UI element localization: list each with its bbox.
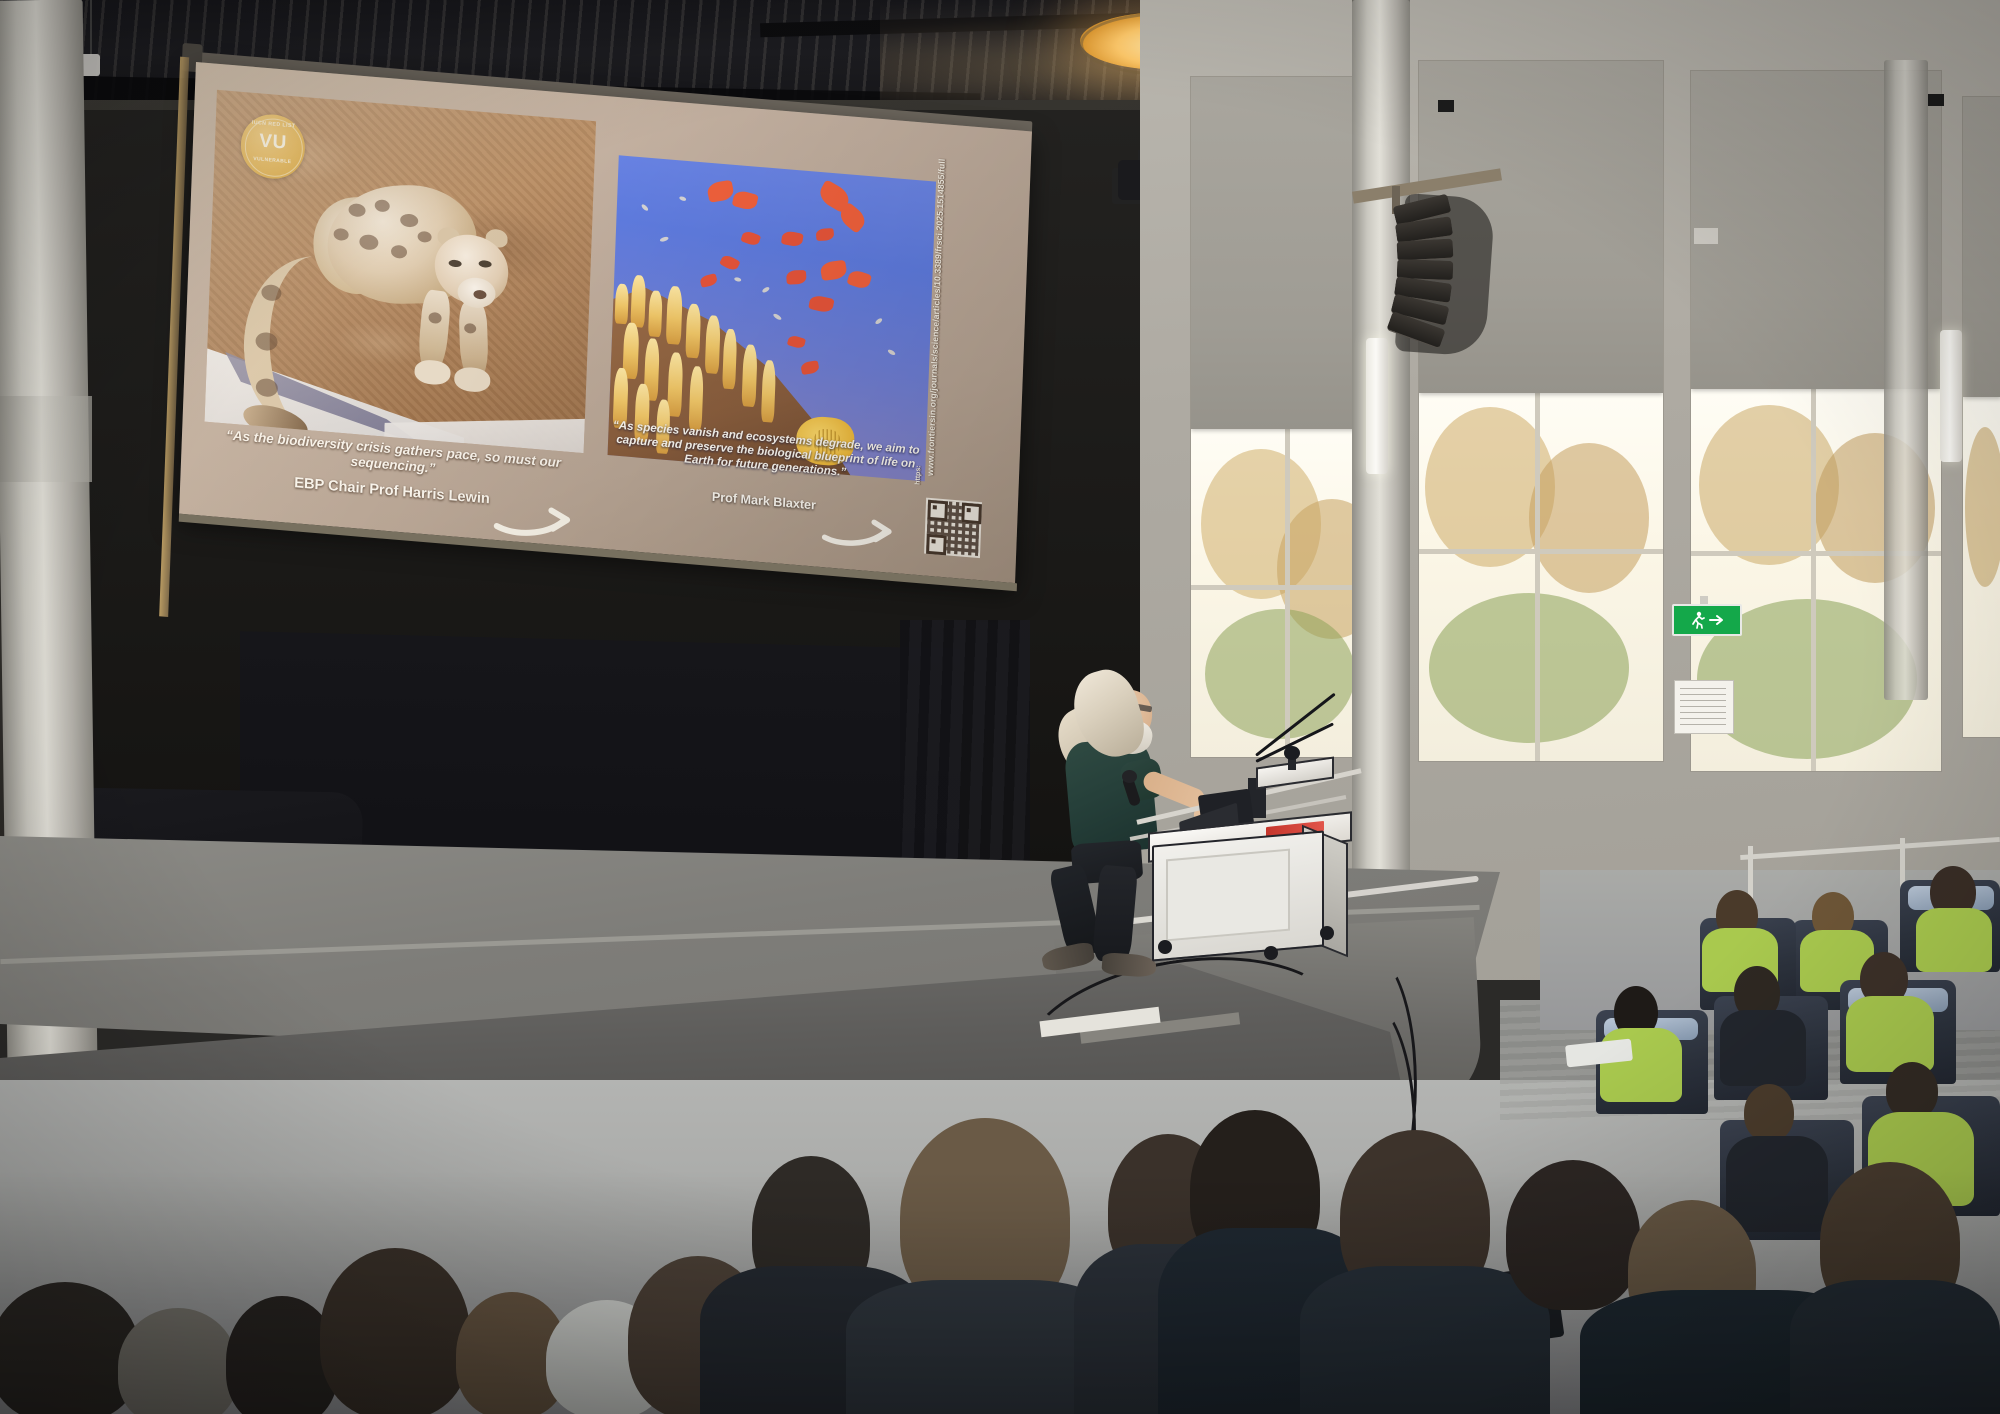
audience-head xyxy=(118,1308,238,1414)
foreground-audience xyxy=(0,1170,2000,1414)
window-glass xyxy=(1419,393,1663,761)
audience-head xyxy=(1506,1160,1640,1310)
running-person-icon xyxy=(1690,611,1706,629)
right-arrow-icon xyxy=(1709,614,1725,626)
audience-shoulders xyxy=(1790,1280,2000,1414)
audience-head xyxy=(0,1282,140,1414)
wall-pier xyxy=(1352,0,1410,960)
window-center xyxy=(1418,60,1664,762)
audience-head xyxy=(320,1248,470,1414)
lectern-caster xyxy=(1158,940,1172,954)
line-array-loudspeaker xyxy=(1392,200,1466,346)
audience-body-green-polo xyxy=(1846,996,1934,1072)
audience-body-green-polo xyxy=(1600,1028,1682,1102)
ceiling-sensor-right xyxy=(1438,100,1454,112)
screen-glare xyxy=(179,62,1032,583)
pendant-wire-left xyxy=(90,0,92,56)
ceiling-sensor-far-right xyxy=(1928,94,1944,106)
wall-notice-text xyxy=(1680,688,1726,726)
camera-icon xyxy=(1284,746,1300,760)
emergency-exit-sign xyxy=(1672,604,1742,636)
audience-body-green-polo xyxy=(1916,908,1992,972)
wall-strip-light xyxy=(1940,330,1962,462)
microphone-head xyxy=(1122,770,1137,783)
window-glass xyxy=(1963,397,2000,737)
presenter-shoe xyxy=(1101,952,1156,978)
window-far-right xyxy=(1962,96,2000,738)
presenter-leg xyxy=(1092,865,1138,964)
wall-strip-light xyxy=(1366,338,1388,474)
wall-plate xyxy=(1694,228,1718,244)
audience-body-dark xyxy=(1720,1010,1806,1086)
lecture-hall-photo: IUCN RED LIST VU VULNERABLE xyxy=(0,0,2000,1414)
lectern-caster xyxy=(1264,946,1278,960)
lectern-caster xyxy=(1320,926,1334,940)
mobile-lectern[interactable] xyxy=(1152,800,1332,950)
audience-shoulders xyxy=(1300,1266,1550,1414)
audience-head xyxy=(1744,1084,1794,1142)
lectern-front-panel xyxy=(1166,849,1290,942)
wall-pier-right xyxy=(1884,60,1928,700)
projection-screen: IUCN RED LIST VU VULNERABLE xyxy=(179,62,1034,591)
window-blind[interactable] xyxy=(1963,97,2000,397)
column-band xyxy=(0,396,92,482)
